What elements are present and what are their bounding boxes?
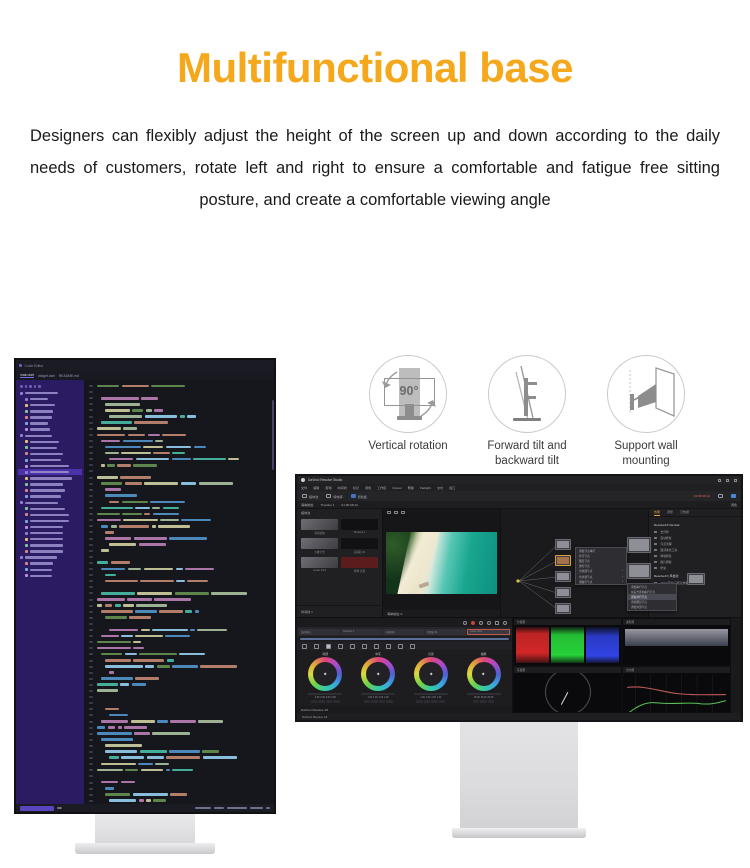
editor-tab[interactable]: widget.dart xyxy=(38,374,55,378)
code-token xyxy=(123,519,157,522)
code-token xyxy=(125,482,142,485)
inspector-section-title: ResolveFX Revival xyxy=(654,523,736,527)
node-item[interactable] xyxy=(555,587,571,598)
media-pool-grid[interactable]: 海岸航拍Timeline 1沙滩全景音频轨 01Lower third转场 过渡 xyxy=(297,516,382,576)
code-token xyxy=(97,604,102,607)
color-value-field[interactable] xyxy=(488,700,495,704)
viewer-split-icon[interactable] xyxy=(394,511,398,514)
effect-icon xyxy=(654,537,657,540)
menubar-item[interactable]: Fusion xyxy=(393,486,402,490)
code-token xyxy=(97,769,123,772)
code-token xyxy=(109,714,128,717)
color-value-field[interactable] xyxy=(379,700,386,704)
code-token xyxy=(115,604,121,607)
color-wheel-group[interactable]: 暗部0.000.000.000.00 xyxy=(300,652,351,704)
file-icon xyxy=(25,398,28,401)
file-tree-item[interactable] xyxy=(18,573,82,579)
media-pool-clip[interactable]: 转场 过渡 xyxy=(341,557,378,573)
node-item[interactable] xyxy=(555,571,571,582)
file-icon xyxy=(25,526,28,529)
file-icon xyxy=(25,568,28,571)
scope-rgb-parade[interactable]: 分量图 xyxy=(513,618,622,666)
color-value-field[interactable] xyxy=(424,700,431,704)
color-wheel-handle[interactable] xyxy=(376,672,379,675)
stop-icon[interactable] xyxy=(495,621,499,625)
parade-green xyxy=(551,627,584,663)
file-explorer-sidebar[interactable] xyxy=(16,380,84,804)
color-wheel-value: 25.00 xyxy=(474,697,480,699)
inspector-tab-metadata[interactable]: 元数据 xyxy=(680,510,689,515)
code-token xyxy=(101,635,119,638)
code-token xyxy=(153,513,179,516)
scope-curves[interactable]: 直方图 xyxy=(622,666,731,714)
bell-icon[interactable] xyxy=(266,807,270,809)
viewer-stage[interactable] xyxy=(383,516,500,610)
code-token xyxy=(105,744,142,747)
code-token xyxy=(138,763,153,766)
code-token xyxy=(134,421,168,424)
code-token xyxy=(123,440,153,443)
code-area[interactable] xyxy=(84,380,274,804)
maximize-icon[interactable] xyxy=(726,479,729,482)
scopes-scrollbar[interactable] xyxy=(731,666,741,714)
code-token xyxy=(179,653,205,656)
code-editor-app: Code Editor main.dart widget.dart README… xyxy=(16,360,274,812)
media-pool-clip[interactable]: Lower third xyxy=(301,557,338,573)
node-item-selected[interactable] xyxy=(555,555,571,566)
file-icon xyxy=(25,440,28,443)
clip-label: 转场 过渡 xyxy=(341,569,378,573)
color-wheel-handle[interactable] xyxy=(429,672,432,675)
timeline-clip-segment[interactable]: 海岸航拍 xyxy=(299,629,340,635)
scope-vectorscope[interactable]: 矢量图 xyxy=(513,666,622,714)
file-icon xyxy=(25,574,28,577)
file-icon xyxy=(25,532,28,535)
resolve-version-label: DaVinci Resolve 18 xyxy=(301,708,328,712)
color-value-field[interactable] xyxy=(480,700,487,704)
menubar-item[interactable]: 交付 xyxy=(437,485,443,490)
color-panel-footer: DaVinci Resolve 18 xyxy=(297,706,512,713)
language-mode[interactable] xyxy=(250,807,263,809)
clip-label: 沙滩全景 xyxy=(301,550,338,554)
context-menu-item[interactable]: 源磁带节点› xyxy=(576,579,626,584)
code-token xyxy=(172,452,185,455)
tracker-icon[interactable] xyxy=(374,644,379,649)
color-value-field[interactable] xyxy=(311,700,318,704)
color-wheel-values: 1.001.001.001.00 xyxy=(420,697,441,699)
resolve-titlebar: DaVinci Resolve Studio xyxy=(297,476,741,484)
code-token xyxy=(141,769,164,772)
menubar-item[interactable]: 工作区 xyxy=(377,485,386,490)
color-wheel-value: 25.00 xyxy=(488,697,494,699)
code-token xyxy=(144,482,178,485)
feature-vertical-rotation: 90° Vertical rotation xyxy=(358,355,458,469)
inspector-tab-adjust[interactable]: 调整 xyxy=(667,510,673,515)
toolbar-button[interactable]: 媒体池 xyxy=(302,494,318,499)
scope-waveform[interactable]: 波形图 xyxy=(622,618,731,666)
clip-thumbnail xyxy=(341,538,378,549)
code-token xyxy=(143,446,163,449)
line-number-gutter xyxy=(84,380,95,804)
clip-label: 海岸航拍 xyxy=(301,531,338,535)
code-token xyxy=(105,446,141,449)
timeline-clip-segment[interactable]: Timeline 1 xyxy=(341,629,382,635)
subbar-right: 调色 xyxy=(731,502,737,507)
menubar-item[interactable]: 调色 xyxy=(365,485,371,490)
indentation-setting[interactable] xyxy=(214,807,224,809)
code-token xyxy=(194,446,206,449)
color-value-field[interactable] xyxy=(473,700,480,704)
timeline-clip-segment[interactable]: 音频轨 01 xyxy=(425,629,466,635)
color-wheel-value: 1.00 xyxy=(373,697,377,699)
folder-icon xyxy=(20,501,23,504)
window-dot-icon xyxy=(19,364,22,367)
code-token xyxy=(180,415,185,418)
color-wheel-handle[interactable] xyxy=(324,672,327,675)
resolve-menubar[interactable]: 文件编辑剪辑时间线标记调色工作区Fusion帮助Fairlight交付窗口 xyxy=(297,484,741,491)
code-token xyxy=(133,464,157,467)
curves-icon[interactable] xyxy=(338,644,343,649)
code-token xyxy=(152,629,188,632)
color-value-field[interactable] xyxy=(431,700,438,704)
feature-list: 90° Vertical rotation Forward tilt and b… xyxy=(358,355,696,469)
media-pool-clip[interactable]: 音频轨 01 xyxy=(341,538,378,554)
statusbar-label: DaVinci Resolve 18 xyxy=(302,715,327,719)
viewer-statusbar: 海岸航拍 A xyxy=(383,610,500,617)
code-token xyxy=(118,726,122,729)
color-value-field[interactable] xyxy=(386,700,393,704)
effect-label: 修复 xyxy=(660,566,666,570)
timeline-clip-segment[interactable]: 沙滩全景 xyxy=(383,629,424,635)
extensions-icon xyxy=(38,385,41,388)
code-token xyxy=(169,537,207,540)
code-token xyxy=(203,756,237,759)
color-value-field[interactable] xyxy=(318,700,325,704)
code-token xyxy=(154,598,190,601)
toolbar-button[interactable]: 调色板 xyxy=(351,494,367,499)
code-token xyxy=(155,440,163,443)
code-token xyxy=(136,458,170,461)
code-token xyxy=(121,781,135,784)
play-icon[interactable] xyxy=(487,621,491,625)
menubar-item[interactable]: Fairlight xyxy=(420,486,431,490)
color-value-field[interactable] xyxy=(364,700,371,704)
toolbar-button[interactable]: 特效库 xyxy=(326,494,342,499)
code-token xyxy=(134,732,149,735)
code-token xyxy=(172,769,193,772)
code-token xyxy=(150,501,185,504)
code-token xyxy=(97,385,119,388)
code-token xyxy=(101,482,122,485)
code-token xyxy=(105,793,130,796)
code-token xyxy=(155,763,169,766)
editor-tab[interactable]: README.md xyxy=(59,374,79,378)
code-token xyxy=(117,464,130,467)
sync-icon[interactable] xyxy=(57,807,62,809)
color-wheel-label: 偏移 xyxy=(481,652,487,656)
effect-label: 污点清理 xyxy=(660,542,671,546)
effect-label: 胶片颗粒 xyxy=(660,560,671,564)
color-value-field[interactable] xyxy=(326,700,333,704)
code-token xyxy=(167,659,175,662)
code-lines[interactable] xyxy=(97,383,272,804)
scope-row-top: 分量图 波形图 xyxy=(513,618,741,666)
code-token xyxy=(151,385,185,388)
code-token xyxy=(176,568,183,571)
code-token xyxy=(170,720,196,723)
code-token xyxy=(132,409,143,412)
file-icon xyxy=(25,446,28,449)
code-token xyxy=(97,647,131,650)
editor-tabbar: main.dart widget.dart README.md xyxy=(16,371,274,380)
code-token xyxy=(97,726,105,729)
clip-thumbnail xyxy=(301,538,338,549)
code-token xyxy=(139,653,177,656)
code-token xyxy=(131,720,155,723)
code-token xyxy=(198,720,223,723)
sizing-icon[interactable] xyxy=(410,644,415,649)
color-tool-row xyxy=(297,642,512,650)
code-token xyxy=(105,403,140,406)
color-wheel-value: 1.00 xyxy=(420,697,424,699)
sync-button[interactable] xyxy=(731,494,736,498)
encoding-setting[interactable] xyxy=(227,807,247,809)
clip-thumbnail xyxy=(301,519,338,530)
inspector-tabs: 效果 调整 元数据 xyxy=(649,509,741,517)
color-wheel[interactable] xyxy=(308,657,342,691)
code-token xyxy=(146,409,152,412)
color-match-icon[interactable] xyxy=(314,644,319,649)
toolbar-right: 01:00:08:12 xyxy=(694,494,736,498)
clip-thumbnail xyxy=(341,519,378,530)
landscape-monitor-stand-base xyxy=(452,828,586,838)
clip-label: Timeline 1 xyxy=(341,531,378,534)
code-token xyxy=(148,434,160,437)
subbar-timeline: Timeline 1 xyxy=(320,503,334,507)
color-wheel-fields xyxy=(473,700,495,704)
code-token xyxy=(97,561,108,564)
color-wheel[interactable] xyxy=(467,657,501,691)
color-wheel[interactable] xyxy=(414,657,448,691)
vectorscope-graticule xyxy=(545,673,591,713)
code-token xyxy=(133,793,168,796)
color-wheel-fields xyxy=(416,700,445,704)
folder-icon xyxy=(20,556,23,559)
key-icon[interactable] xyxy=(398,644,403,649)
node-item[interactable] xyxy=(687,573,705,585)
scopes-scrollbar[interactable] xyxy=(731,618,741,666)
subbar-page-active[interactable]: 调色 xyxy=(731,502,737,507)
inspector-tab-effects[interactable]: 效果 xyxy=(654,510,660,516)
menubar-item[interactable]: 帮助 xyxy=(408,485,414,490)
file-icon xyxy=(25,538,28,541)
clip-thumbnail-strip[interactable]: 海岸航拍Timeline 1沙滩全景音频轨 01Lower third xyxy=(297,627,512,636)
color-wheel-slider[interactable] xyxy=(414,693,448,695)
code-token xyxy=(181,519,211,522)
color-value-field[interactable] xyxy=(333,700,340,704)
media-pool-panel: 媒体池 海岸航拍Timeline 1沙滩全景音频轨 01Lower third转… xyxy=(297,509,383,617)
cursor-position[interactable] xyxy=(195,807,211,809)
code-token xyxy=(97,683,118,686)
color-wheel-value: 0.00 xyxy=(315,697,319,699)
share-button[interactable] xyxy=(718,494,723,498)
code-token xyxy=(157,720,168,723)
editor-scrollbar[interactable] xyxy=(272,400,274,470)
resolve-upper-row: 媒体池 海岸航拍Timeline 1沙滩全景音频轨 01Lower third转… xyxy=(297,509,741,617)
code-token xyxy=(135,677,159,680)
blur-icon[interactable] xyxy=(386,644,391,649)
loop-icon[interactable] xyxy=(463,621,467,625)
code-token xyxy=(109,756,119,759)
context-submenu-item[interactable]: 添加外部节点 xyxy=(628,605,676,610)
code-token xyxy=(109,799,136,802)
code-token xyxy=(101,421,132,424)
scope-canvas xyxy=(623,673,730,713)
code-token xyxy=(121,452,151,455)
code-token xyxy=(107,464,115,467)
media-pool-clip[interactable]: 海岸航拍 xyxy=(301,519,338,535)
node-item[interactable] xyxy=(555,603,571,614)
inspector-effect-item[interactable]: 修复 xyxy=(654,565,736,571)
viewer-mode-icon[interactable] xyxy=(387,511,391,514)
code-token xyxy=(105,494,137,497)
code-token xyxy=(140,580,173,583)
code-line[interactable] xyxy=(97,803,272,804)
menubar-item[interactable]: 窗口 xyxy=(449,485,455,490)
timeline-clip-segment[interactable]: Lower third xyxy=(467,629,510,635)
color-panel: 海岸航拍Timeline 1沙滩全景音频轨 01Lower third xyxy=(297,618,513,713)
color-wheel-fields xyxy=(311,700,340,704)
menubar-item[interactable]: 编辑 xyxy=(313,485,319,490)
node-item[interactable] xyxy=(627,563,651,579)
code-token xyxy=(111,525,117,528)
clip-thumbnail xyxy=(301,557,338,568)
qualifier-icon[interactable] xyxy=(350,644,355,649)
color-wheel-group[interactable]: 亮部1.001.001.001.00 xyxy=(406,652,457,704)
color-wheel-label: 暗部 xyxy=(323,652,329,656)
node-graph-panel[interactable]: 添加节点串行并行节点图层节点键控节点分离器节点›合并器节点›源磁带节点› 添加串… xyxy=(501,509,649,617)
menubar-item[interactable]: 剪辑 xyxy=(325,485,331,490)
color-wheel-value: 1.00 xyxy=(437,697,441,699)
menubar-item[interactable]: 标记 xyxy=(353,485,359,490)
code-token xyxy=(211,592,247,595)
camera-raw-icon[interactable] xyxy=(302,644,307,649)
code-token xyxy=(135,610,156,613)
menubar-item[interactable]: 时间线 xyxy=(338,485,347,490)
search-icon xyxy=(25,385,28,388)
resolve-statusbar: DaVinci Resolve 18 xyxy=(297,713,741,720)
node-context-submenu[interactable]: 添加串行节点在后方添加串行节点添加并行节点添加图层节点添加外部节点 xyxy=(627,583,677,611)
color-wheel-label: 亮部 xyxy=(428,652,434,656)
file-icon xyxy=(25,489,28,492)
prev-frame-icon[interactable] xyxy=(479,621,483,625)
window-controls xyxy=(718,479,737,482)
code-token xyxy=(97,641,131,644)
media-pool-clip[interactable]: Timeline 1 xyxy=(341,519,378,535)
color-wheel-handle[interactable] xyxy=(482,672,485,675)
code-token xyxy=(105,574,116,577)
code-token xyxy=(109,629,138,632)
code-token xyxy=(109,671,114,674)
code-token xyxy=(170,793,187,796)
subbar-clipname: 海岸航拍 xyxy=(301,502,313,507)
code-token xyxy=(97,434,125,437)
code-token xyxy=(228,458,240,461)
code-token xyxy=(190,629,195,632)
close-icon[interactable] xyxy=(734,479,737,482)
window-icon[interactable] xyxy=(362,644,367,649)
code-token xyxy=(166,446,191,449)
editor-tab-active[interactable]: main.dart xyxy=(20,373,34,378)
color-wheel-value: 0.00 xyxy=(320,697,324,699)
viewer-annotate-icon[interactable] xyxy=(401,511,405,514)
color-wheel-slider[interactable] xyxy=(361,693,395,695)
file-icon xyxy=(25,477,28,480)
viewer-image xyxy=(386,532,497,594)
color-wheel-group[interactable]: 偏移25.0025.0025.00 xyxy=(458,652,509,704)
code-token xyxy=(127,598,152,601)
file-icon xyxy=(25,507,28,510)
code-token xyxy=(135,507,150,510)
file-icon xyxy=(25,428,28,431)
code-token xyxy=(124,726,147,729)
code-token xyxy=(172,458,191,461)
code-token xyxy=(139,799,144,802)
resolve-toolbar: 媒体池 特效库 调色板 01:00:08:12 xyxy=(297,491,741,501)
color-wheel[interactable] xyxy=(361,657,395,691)
code-token xyxy=(162,434,186,437)
code-token xyxy=(101,507,133,510)
color-wheel-group[interactable]: 中灰1.001.001.001.00 xyxy=(353,652,404,704)
node-item[interactable] xyxy=(627,537,651,553)
color-wheels-icon[interactable] xyxy=(326,644,331,649)
next-frame-icon[interactable] xyxy=(503,621,507,625)
color-value-field[interactable] xyxy=(371,700,378,704)
color-wheels[interactable]: 暗部0.000.000.000.00中灰1.001.001.001.00亮部1.… xyxy=(297,650,512,706)
subbar-timecode: 01:00:08:12 xyxy=(342,503,358,507)
code-token xyxy=(153,799,166,802)
color-wheel-slider[interactable] xyxy=(308,693,342,695)
code-token xyxy=(101,610,133,613)
curve-traces xyxy=(625,675,728,713)
code-token xyxy=(105,604,113,607)
code-token xyxy=(144,568,174,571)
code-token xyxy=(133,647,144,650)
code-token xyxy=(163,507,179,510)
code-token xyxy=(147,756,164,759)
branch-indicator[interactable] xyxy=(20,806,54,811)
menubar-item[interactable]: 文件 xyxy=(301,485,307,490)
code-token xyxy=(97,732,132,735)
code-token xyxy=(97,427,121,430)
media-pool-clip[interactable]: 沙滩全景 xyxy=(301,538,338,554)
color-value-field[interactable] xyxy=(416,700,423,704)
code-token xyxy=(134,537,167,540)
code-token xyxy=(185,568,214,571)
portrait-monitor: Code Editor main.dart widget.dart README… xyxy=(14,358,276,814)
node-context-menu[interactable]: 添加节点串行并行节点图层节点键控节点分离器节点›合并器节点›源磁带节点› xyxy=(575,547,627,585)
code-token xyxy=(166,769,170,772)
code-token xyxy=(111,561,131,564)
node-item[interactable] xyxy=(555,539,571,550)
color-wheel-slider[interactable] xyxy=(467,693,501,695)
folder-icon xyxy=(20,392,23,395)
record-button[interactable] xyxy=(471,621,475,625)
color-value-field[interactable] xyxy=(439,700,446,704)
code-token xyxy=(105,488,121,491)
code-token xyxy=(144,513,151,516)
minimize-icon[interactable] xyxy=(718,479,721,482)
